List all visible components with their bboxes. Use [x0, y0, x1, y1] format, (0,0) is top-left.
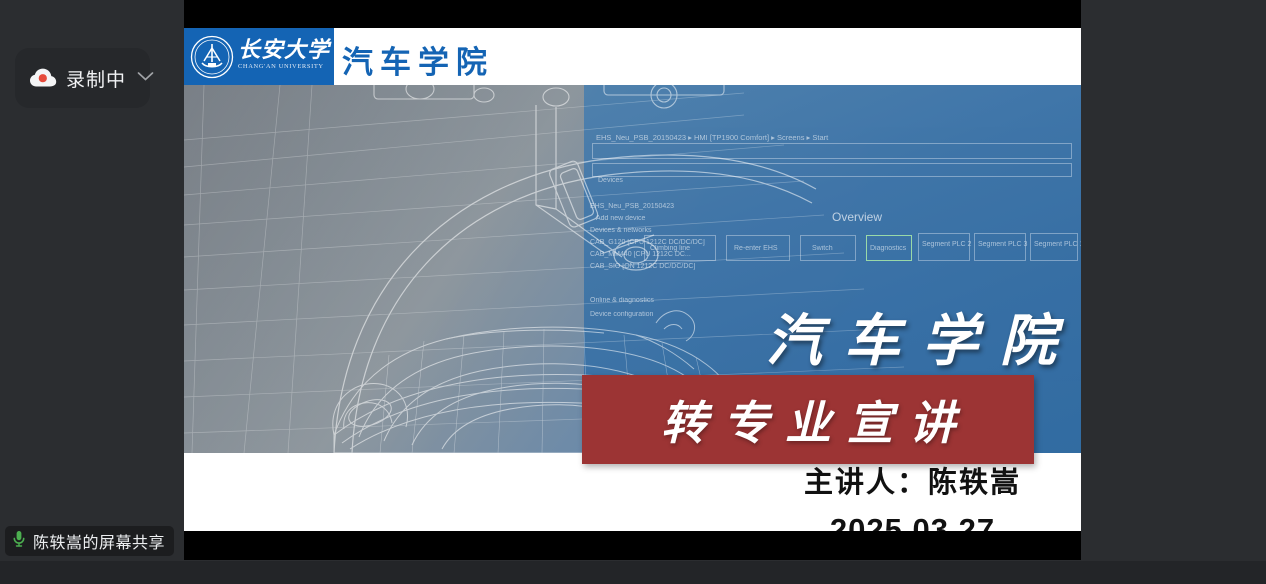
slide-subtitle-banner: 转专业宣讲	[582, 375, 1034, 464]
university-seal-icon	[190, 35, 234, 79]
slide-subtitle-text: 转专业宣讲	[645, 387, 971, 453]
meeting-window: 录制中 陈轶嵩的屏幕共享 EHS_Neu_PSB_20150423 ▸ HMI …	[0, 0, 1266, 584]
presentation-slide: EHS_Neu_PSB_20150423 ▸ HMI [TP1900 Comfo…	[184, 28, 1081, 531]
recording-status-button[interactable]: 录制中	[15, 48, 150, 108]
shared-screen-stage[interactable]: EHS_Neu_PSB_20150423 ▸ HMI [TP1900 Comfo…	[184, 0, 1081, 560]
screen-share-indicator: 陈轶嵩的屏幕共享	[5, 526, 174, 556]
recording-cloud-icon	[29, 68, 57, 88]
participant-rail: 陈轶嵩	[1081, 0, 1266, 584]
university-name-en: CHANG'AN UNIVERSITY	[238, 63, 330, 70]
presenter-name: 主讲人：陈轶嵩	[744, 468, 1081, 500]
university-brand-block: 长安大学 CHANG'AN UNIVERSITY	[184, 28, 334, 85]
university-name-cn: 长安大学	[238, 39, 330, 61]
horizontal-scrollbar-track[interactable]	[0, 561, 1266, 584]
presentation-date: 2025.03.27	[744, 512, 1081, 531]
presenter-block: 主讲人：陈轶嵩 2025.03.27	[744, 468, 1081, 531]
slide-header: 长安大学 CHANG'AN UNIVERSITY 汽车学院	[184, 28, 1081, 85]
slide-title: 汽车学院	[766, 296, 1078, 377]
college-name: 汽车学院	[342, 37, 494, 82]
chevron-down-icon[interactable]	[137, 69, 154, 87]
screen-share-label: 陈轶嵩的屏幕共享	[33, 529, 165, 553]
microphone-icon	[12, 530, 26, 553]
recording-label: 录制中	[66, 65, 126, 92]
